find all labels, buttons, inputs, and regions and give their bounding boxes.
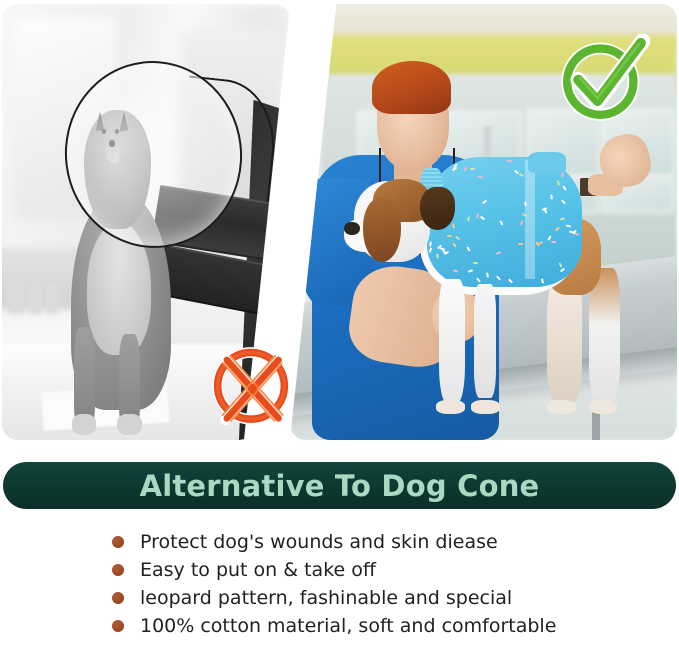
photo-comparison-area: [0, 0, 679, 450]
bullet-dot-icon: [112, 536, 124, 548]
check-mark-badge: [558, 32, 650, 124]
beagle-ear-back: [420, 187, 455, 230]
beagle-front-leg-2: [474, 284, 496, 398]
suit-sprinkle: [467, 217, 470, 222]
list-item: leopard pattern, fashinable and special: [0, 584, 679, 612]
page-title: Alternative To Dog Cone: [140, 469, 540, 503]
suit-sprinkle: [453, 269, 458, 272]
bullet-dot-icon: [112, 564, 124, 576]
suit-sprinkle: [482, 199, 487, 204]
suit-sprinkle: [447, 234, 452, 237]
beagle-paw-2: [471, 400, 500, 414]
dog-paw-right: [117, 414, 141, 435]
feature-text: leopard pattern, fashinable and special: [140, 587, 512, 609]
beagle-front-leg-1: [439, 279, 464, 403]
suit-sprinkle: [452, 223, 455, 228]
suit-sprinkle: [442, 249, 447, 254]
suit-sprinkle: [557, 181, 561, 186]
bottle-2: [28, 279, 42, 314]
suit-sprinkle: [519, 221, 523, 226]
list-item: 100% cotton material, soft and comfortab…: [0, 612, 679, 640]
bullet-dot-icon: [112, 592, 124, 604]
suit-sprinkle: [550, 195, 553, 200]
beagle-paw-3: [547, 400, 576, 414]
suit-sprinkle: [428, 247, 432, 252]
suit-sprinkle: [507, 159, 512, 162]
suit-sprinkle: [478, 175, 483, 178]
suit-sprinkle: [466, 246, 470, 251]
suit-sprinkle: [496, 251, 501, 254]
suit-sprinkle: [452, 242, 457, 247]
suit-sprinkle: [538, 241, 543, 245]
feature-text: Protect dog's wounds and skin diease: [140, 531, 498, 553]
suit-sprinkle: [566, 225, 571, 228]
suit-sprinkle: [476, 278, 481, 283]
feature-text: Easy to put on & take off: [140, 559, 376, 581]
suit-sprinkle: [551, 241, 556, 244]
suit-sprinkle: [561, 172, 564, 177]
suit-sprinkle: [560, 217, 565, 220]
suit-sprinkle: [480, 216, 485, 221]
suit-sprinkle: [568, 173, 573, 177]
vet-red-hair: [372, 61, 451, 113]
suit-sprinkle: [476, 214, 479, 219]
suit-sprinkle: [508, 279, 513, 284]
suit-sprinkle: [519, 173, 524, 177]
list-item: Protect dog's wounds and skin diease: [0, 528, 679, 556]
beagle-paw-1: [436, 400, 465, 414]
product-infographic: Alternative To Dog Cone Protect dog's wo…: [0, 0, 679, 662]
suit-back-tab: [528, 152, 566, 174]
suit-sprinkle: [467, 269, 472, 273]
suit-sprinkle: [469, 168, 474, 170]
suit-sprinkle: [554, 227, 559, 232]
suit-sprinkle: [446, 157, 450, 162]
section-banner: Alternative To Dog Cone: [3, 462, 676, 509]
bottle-1: [8, 274, 25, 313]
suit-sprinkle: [487, 272, 490, 277]
suit-sprinkle: [463, 166, 467, 171]
suit-sprinkle: [518, 242, 523, 244]
suit-sprinkle: [558, 263, 562, 268]
suit-sprinkle: [499, 220, 503, 225]
suit-seam: [525, 160, 535, 279]
dog-paw-left: [72, 414, 96, 435]
suit-sprinkle: [562, 186, 566, 191]
suit-sprinkle: [473, 262, 478, 264]
suit-sprinkle: [496, 276, 501, 281]
feature-text: 100% cotton material, soft and comfortab…: [140, 615, 556, 637]
suit-sprinkle: [560, 267, 565, 272]
suit-sprinkle: [455, 235, 460, 240]
cross-x-badge: [209, 340, 293, 430]
feature-list: Protect dog's wounds and skin diease Eas…: [0, 528, 679, 640]
suit-sprinkle: [429, 242, 431, 247]
beagle-dog: [344, 144, 661, 414]
list-item: Easy to put on & take off: [0, 556, 679, 584]
suit-sprinkle: [548, 235, 552, 240]
bullet-dot-icon: [112, 620, 124, 632]
suit-sprinkle: [541, 279, 544, 284]
suit-sprinkle: [569, 230, 574, 233]
suit-sprinkle: [436, 253, 438, 258]
suit-sprinkle: [561, 199, 566, 204]
beagle-paw-4: [589, 400, 618, 414]
